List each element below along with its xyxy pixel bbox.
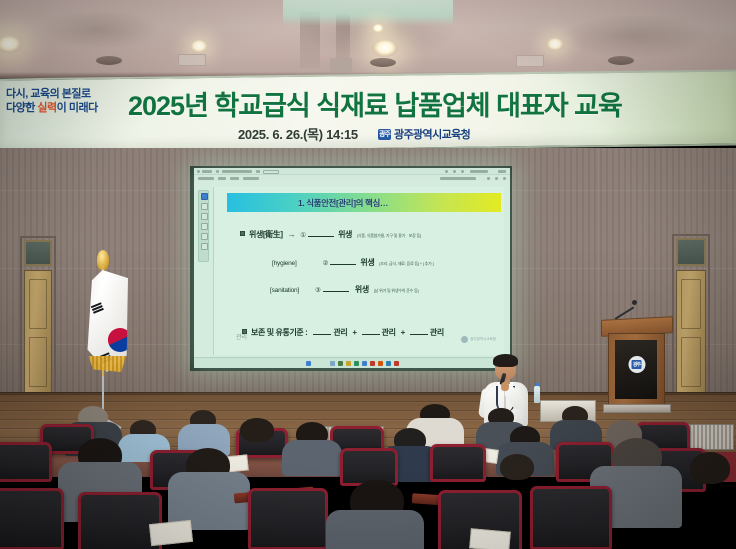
ceiling-spotlight [0,36,22,53]
door-panel [29,279,47,329]
podium-microphone-icon [615,300,637,320]
slogan-part-c: 이 미래다 [57,102,98,114]
slide-row-label: [sanitation] [270,287,299,294]
slide-bottom-blank-c [410,327,428,335]
taskbar-app-icon[interactable] [378,361,383,366]
auditorium-seat[interactable] [430,444,486,482]
ceiling-spotlight [372,40,398,57]
attendee-head [240,418,274,442]
attendee-head [500,454,534,480]
ceiling-spotlight [372,24,384,33]
auditorium-seat[interactable] [0,488,64,549]
sidebar-tool-icon[interactable] [201,243,208,250]
slide-bottom-plus-2: + [401,328,405,337]
slogan-part-a: 다양한 [6,102,37,114]
auditorium-seat[interactable] [530,486,612,549]
taskbar-app-icon[interactable] [354,361,359,366]
sidebar-tool-icon[interactable] [201,193,208,200]
slide-row-term: 위생 [360,257,374,268]
slide-row: [hygiene] ② 위생 [조리, 급식, 재료, 음료 등] + [ 추가… [272,257,433,268]
podium-emblem-icon: 광주 [632,360,642,369]
banner-date: 2025. 6. 26.(목) 14:15 [238,124,358,143]
slide-canvas[interactable]: 1. 식품안전[관리]의 핵심… 위생[衛生] → ① 위생 [식품, 식품첨가… [213,187,504,355]
slide-row-number: ③ [315,286,321,294]
slide-logo: 광주광역시교육청 [461,336,496,343]
taskbar-app-icon[interactable] [394,361,399,366]
bullet-square-icon [240,231,245,236]
slide-bottom-blank-a [313,327,331,335]
slide-row-number: ① [300,231,306,239]
slide-row-blank [330,257,356,265]
projection-screen[interactable]: 1. 식품안전[관리]의 핵심… 위생[衛生] → ① 위생 [식품, 식품첨가… [194,168,510,368]
slide-bottom-word-c: 관리 [430,327,444,338]
presenter-hair [493,354,518,367]
slide-row-note: [조리, 급식, 재료, 음료 등] + [ 추가 ] [379,261,433,267]
ceiling-recessed-light [96,56,122,65]
slide-bottom-blank-b [362,327,380,335]
taskbar-app-icon[interactable] [338,361,343,366]
taskbar-app-icon[interactable] [362,361,367,366]
slide-row-term: 위생 [355,284,369,295]
ceiling-air-vent [516,55,544,67]
taskbar-app-icon[interactable] [386,361,391,366]
slide-row-label: 위생[衛生] [249,229,283,240]
door-panel [29,337,47,387]
auditorium-seat[interactable] [78,492,162,549]
ceiling-recessed-light [370,58,396,67]
ceiling-air-vent [330,58,352,72]
slide-row: 위생[衛生] → ① 위생 [식품, 식품첨가물, 기구 및 용기ㆍ포장 등] [240,229,421,240]
exit-door-left-transom [24,240,52,266]
app-tool-sidebar[interactable] [198,190,209,262]
door-panel [681,337,701,387]
slide-row-number: ② [323,259,329,267]
sidebar-tool-icon[interactable] [201,213,208,220]
korean-flag-stand [72,248,134,428]
ceiling [0,0,736,78]
taskbar-app-icon[interactable] [330,361,335,366]
slide-row-blank [308,229,334,237]
slide-row-blank [323,284,349,292]
slide-bottom-label: 보존 및 유통기준 : [251,327,307,338]
taskbar-app-icon[interactable] [370,361,375,366]
education-office-logo-icon: 광주 [378,129,391,140]
auditorium-scene: 다시, 교육의 본질로 다양한 실력이 미래다 2025년 학교급식 식재료 납… [0,0,736,549]
exit-door-right-transom [676,238,706,266]
taskbar-start-icon[interactable] [306,361,311,366]
slide-logo-text: 광주광역시교육청 [470,337,496,342]
slide-row-arrow: → [288,230,296,239]
exit-door-left[interactable] [24,270,52,396]
slide-logo-icon [461,336,468,343]
lectern-podium[interactable]: 광주 [601,318,673,418]
slide-title: 1. 식품안전[관리]의 핵심… [298,197,388,209]
slide-row-label: [hygiene] [272,260,297,267]
sidebar-tool-icon[interactable] [201,203,208,210]
ceiling-stain [40,10,160,50]
slide-row-note: [식품, 식품첨가물, 기구 및 용기ㆍ포장 등] [357,233,421,239]
presentation-app-window: 1. 식품안전[관리]의 핵심… 위생[衛生] → ① 위생 [식품, 식품첨가… [194,168,510,368]
banner-title: 2025년 학교급식 식재료 납품업체 대표자 교육 [128,84,728,123]
sidebar-tool-icon[interactable] [201,223,208,230]
slide-bottom-word-b: 관리 [382,327,396,338]
attendee-body [326,510,424,549]
slide-bottom-word-a: 관리 [333,327,347,338]
ceiling-recessed-light [608,56,634,65]
event-banner: 다시, 교육의 본질로 다양한 실력이 미래다 2025년 학교급식 식재료 납… [0,70,736,155]
ceiling-spotlight [546,38,564,51]
banner-org-name: 광주광역시교육청 [394,126,470,142]
audience-seating [0,404,736,549]
slogan-part-highlight: 실력 [37,102,56,114]
trigram-geon-icon [91,302,105,314]
slide-title-banner: 1. 식품안전[관리]의 핵심… [227,193,501,212]
banner-slogan: 다시, 교육의 본질로 다양한 실력이 미래다 [6,88,124,116]
ceiling-spotlight [190,40,208,53]
slide-row-note: [남 위거 및 위생수칙 준수 등] [374,288,419,294]
ceiling-stain [560,14,710,58]
water-bottle [534,386,540,403]
slide-footer-note: 관리 [236,332,247,341]
ceiling-air-vent [178,54,206,66]
slide-bottom-plus-1: + [352,328,356,337]
presenter-hand [501,382,509,391]
attendee-body [282,440,342,476]
slogan-line-2: 다양한 실력이 미래다 [6,102,124,116]
slogan-line-1: 다시, 교육의 본질로 [6,88,124,102]
banner-organization: 광주 광주광역시교육청 [378,126,470,142]
auditorium-seat[interactable] [0,442,52,482]
app-menubar[interactable] [194,175,510,181]
slide-row-term: 위생 [338,229,352,240]
attendee-head [690,452,730,484]
os-taskbar[interactable] [194,357,510,368]
door-panel [681,279,701,329]
flag-fringe [86,356,126,372]
slide-row: [sanitation] ③ 위생 [남 위거 및 위생수칙 준수 등] [270,284,418,295]
podium-body: 광주 [608,333,665,405]
app-titlebar [194,168,510,175]
podium-emblem: 광주 [628,356,645,373]
auditorium-seat[interactable] [248,488,328,549]
sidebar-tool-icon[interactable] [201,233,208,240]
taskbar-app-icon[interactable] [346,361,351,366]
handout-paper [469,528,511,549]
slide-bottom-row: 보존 및 유통기준 : 관리 + 관리 + 관리 [242,327,444,338]
exit-door-right[interactable] [676,270,706,396]
projector-light-spill [283,0,453,26]
handout-paper [149,520,193,546]
